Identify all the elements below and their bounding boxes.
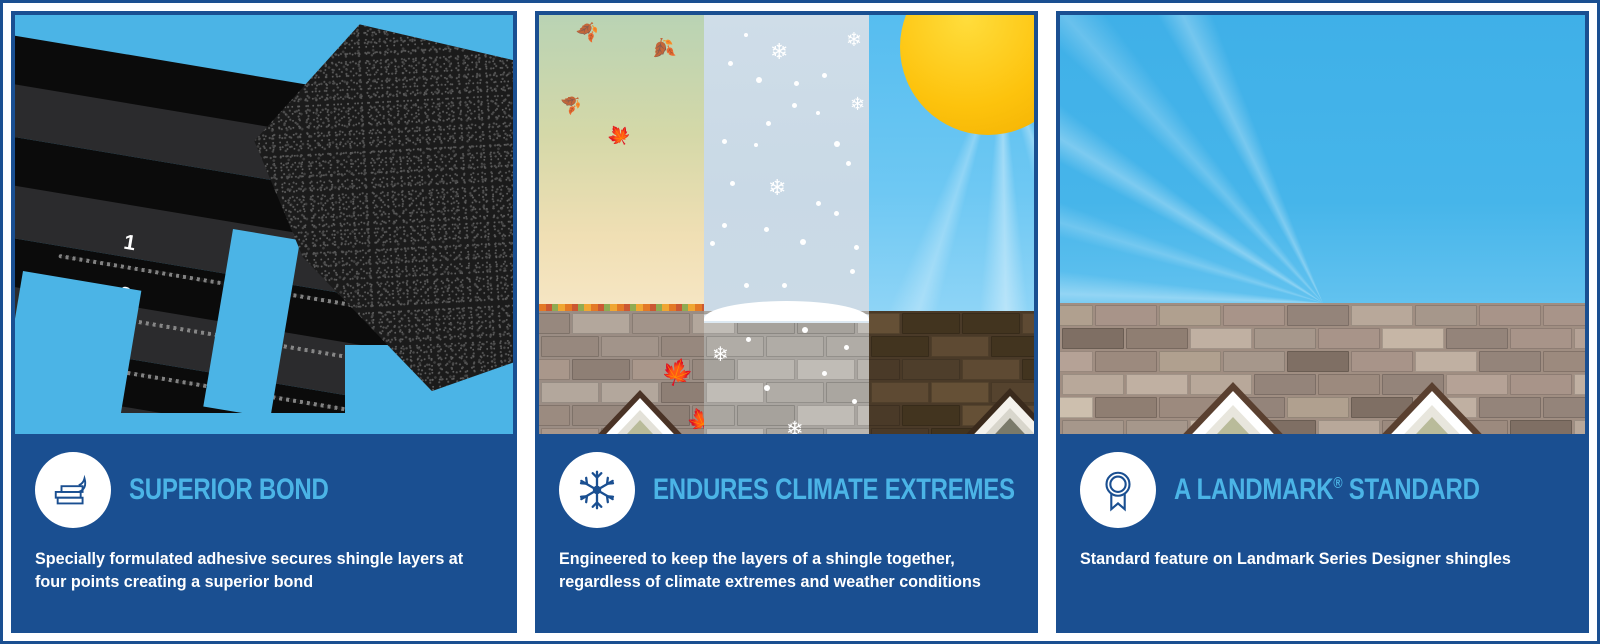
panel-a-landmark-standard: A LANDMARK® STANDARD Standard feature on…: [1056, 11, 1589, 633]
snow-dot: [792, 103, 797, 108]
shingle-tab: [869, 359, 900, 380]
dormer: [1168, 372, 1298, 434]
snow-dot: [766, 121, 771, 126]
shingle-tab: [1382, 328, 1444, 349]
season-summer: [869, 15, 1034, 434]
shingle-tab: [1062, 328, 1124, 349]
snow-dot: [800, 239, 806, 245]
shingle-tab: [692, 313, 704, 334]
snow-dot: [764, 385, 770, 391]
panel-title-text: ENDURES CLIMATE EXTREMES: [653, 473, 1015, 506]
shingle-tab: [1223, 351, 1285, 372]
shingle-tab: [871, 336, 929, 357]
shingle-tab: [1574, 420, 1585, 434]
caption-header: ENDURES CLIMATE EXTREMES: [559, 452, 1014, 528]
shingle-tab: [766, 336, 824, 357]
shingle-tab: [1095, 305, 1157, 326]
dormer: [585, 382, 695, 434]
shingle-tab: [826, 382, 869, 403]
shingle-tab: [572, 359, 630, 380]
snow-dot: [756, 77, 762, 83]
shingle-tab: [1095, 397, 1157, 418]
shingle-tab: [632, 313, 690, 334]
snow-dot: [728, 61, 733, 66]
shingle-texture: [1060, 303, 1585, 434]
registered-trademark-symbol: ®: [1333, 475, 1342, 492]
caption-a-landmark-standard: A LANDMARK® STANDARD Standard feature on…: [1060, 434, 1585, 629]
caption-header: SUPERIOR BOND: [35, 452, 493, 528]
panel-body-text: Specially formulated adhesive secures sh…: [35, 548, 470, 594]
sunburst-rays: [1060, 15, 1585, 303]
shingle-tab: [541, 336, 599, 357]
season-autumn: 🍂 🍂 🍂 🍁 🍁 🍁 🍁: [539, 15, 704, 434]
snow-dot: [816, 201, 821, 206]
shingle-tab: [857, 405, 869, 426]
shingle-tab: [797, 359, 855, 380]
panel-title-suffix: STANDARD: [1342, 473, 1479, 506]
snowflake-icon: ❄: [712, 345, 729, 365]
shingle-tab: [766, 382, 824, 403]
winter-roof: [704, 311, 869, 434]
shingle-tab: [1479, 351, 1541, 372]
snow-dot: [746, 337, 751, 342]
shingle-tab: [991, 336, 1034, 357]
shingle-tab: [1095, 351, 1157, 372]
shingle-tab: [797, 405, 855, 426]
shingle-tab: [539, 313, 570, 334]
illustration-sunburst-roof: [1060, 15, 1585, 434]
caption-endures-climate-extremes: ENDURES CLIMATE EXTREMES Engineered to k…: [539, 434, 1034, 629]
panel-title: ENDURES CLIMATE EXTREMES: [653, 475, 1015, 505]
snow-dot: [802, 327, 808, 333]
snowflake-icon: ❄: [786, 419, 804, 434]
snow-dot: [822, 73, 827, 78]
panel-title-text: A LANDMARK: [1174, 473, 1333, 506]
snowflake-icon: ❄: [846, 31, 862, 50]
snow-dot: [846, 161, 851, 166]
shingle-tab: [1060, 351, 1093, 372]
caption-superior-bond: SUPERIOR BOND Specially formulated adhes…: [15, 434, 513, 629]
designer-shingle-roof: [1060, 303, 1585, 434]
shingle-texture: [704, 311, 869, 434]
summer-sky: [869, 15, 1034, 311]
snow-dot: [844, 345, 849, 350]
snow-dot: [710, 241, 715, 246]
shingle-tab: [931, 336, 989, 357]
shingle-tab: [1022, 313, 1034, 334]
shingle-tab: [1543, 397, 1585, 418]
shingle-tab: [902, 405, 960, 426]
shingle-tab: [1190, 328, 1252, 349]
dormer: [955, 380, 1034, 434]
award-ribbon-icon: [1080, 452, 1156, 528]
caption-header: A LANDMARK® STANDARD: [1080, 452, 1565, 528]
shingle-tab: [902, 313, 960, 334]
snow-dot: [722, 139, 727, 144]
panel-title: SUPERIOR BOND: [129, 475, 329, 505]
snow-dot: [816, 111, 820, 115]
snowflake-icon: ❄: [770, 41, 788, 63]
dormer: [1367, 372, 1497, 434]
season-grid: 🍂 🍂 🍂 🍁 🍁 🍁 🍁: [539, 15, 1034, 434]
snowflake-icon: ❄: [768, 177, 786, 199]
shingle-tab: [1510, 328, 1572, 349]
snow-dot: [730, 181, 735, 186]
shingle-tab: [1479, 305, 1541, 326]
shingle-tab: [1351, 351, 1413, 372]
shingle-tab: [1287, 351, 1349, 372]
shingle-tab: [1060, 397, 1093, 418]
snow-dot: [852, 399, 857, 404]
panel-title: A LANDMARK® STANDARD: [1174, 475, 1480, 505]
shingle-tab: [1254, 328, 1316, 349]
shingle-tab: [539, 359, 570, 380]
autumn-sky: [539, 15, 704, 311]
shingle-tab: [902, 359, 960, 380]
shingle-tab: [539, 405, 570, 426]
panel-title-text: SUPERIOR BOND: [129, 473, 329, 506]
shingle-tab: [1543, 305, 1585, 326]
snow-dot: [764, 227, 769, 232]
snow-dot: [850, 269, 855, 274]
shingle-tab: [962, 313, 1020, 334]
infographic-root: 1 2 3 4: [0, 0, 1600, 644]
shingle-tab: [857, 359, 869, 380]
panel-endures-climate-extremes: 🍂 🍂 🍂 🍁 🍁 🍁 🍁: [535, 11, 1038, 633]
shingle-tab: [1060, 305, 1093, 326]
shingle-tab: [1318, 328, 1380, 349]
shingle-tab: [1126, 328, 1188, 349]
shingle-tab: [962, 359, 1020, 380]
snow-dot: [744, 283, 749, 288]
shingle-tab: [1287, 305, 1349, 326]
snow-dot: [754, 143, 758, 147]
snow-dot: [834, 211, 839, 216]
snow-dot: [722, 223, 727, 228]
shingle-tab: [1415, 305, 1477, 326]
snow-dot: [794, 81, 799, 86]
shingle-tab: [1159, 351, 1221, 372]
snow-dot: [834, 141, 840, 147]
shingle-tab: [1574, 374, 1585, 395]
shingle-layers-icon: [35, 452, 111, 528]
shingle-tab: [737, 359, 795, 380]
shingle-tab: [1159, 305, 1221, 326]
shingle-tab: [1223, 305, 1285, 326]
shingle-tab: [706, 382, 764, 403]
snow-dot: [782, 283, 787, 288]
shingle-tab: [1415, 351, 1477, 372]
shingle-tab: [704, 405, 735, 426]
snow-dot: [854, 245, 859, 250]
illustration-three-seasons: 🍂 🍂 🍂 🍁 🍁 🍁 🍁: [539, 15, 1034, 434]
shingle-tab: [1062, 374, 1124, 395]
shingle-tab: [601, 336, 659, 357]
snowflake-icon: [559, 452, 635, 528]
snow-dot: [744, 33, 748, 37]
shingle-tab: [1062, 420, 1124, 434]
shingle-tab: [1351, 305, 1413, 326]
shingle-tab: [869, 405, 900, 426]
snow-dot: [822, 371, 827, 376]
shingle-tab: [1574, 328, 1585, 349]
shingle-tab: [1446, 328, 1508, 349]
panel-body-text: Standard feature on Landmark Series Desi…: [1080, 548, 1527, 571]
panel-body-text: Engineered to keep the layers of a shing…: [559, 548, 991, 594]
shingle-tab: [871, 382, 929, 403]
shingle-tab: [869, 313, 900, 334]
shingle-tab: [1510, 420, 1572, 434]
shingle-tab: [1510, 374, 1572, 395]
shingle-tab: [1543, 351, 1585, 372]
panel-superior-bond: 1 2 3 4: [11, 11, 517, 633]
season-winter: ❄ ❄ ❄ ❄ ❄ ❄: [704, 15, 869, 434]
shingle-tab: [572, 313, 630, 334]
shingle-tab: [1022, 359, 1034, 380]
illustration-layered-shingle: 1 2 3 4: [15, 15, 513, 434]
sunburst-sky: [1060, 15, 1585, 303]
snowflake-icon: ❄: [850, 95, 865, 113]
